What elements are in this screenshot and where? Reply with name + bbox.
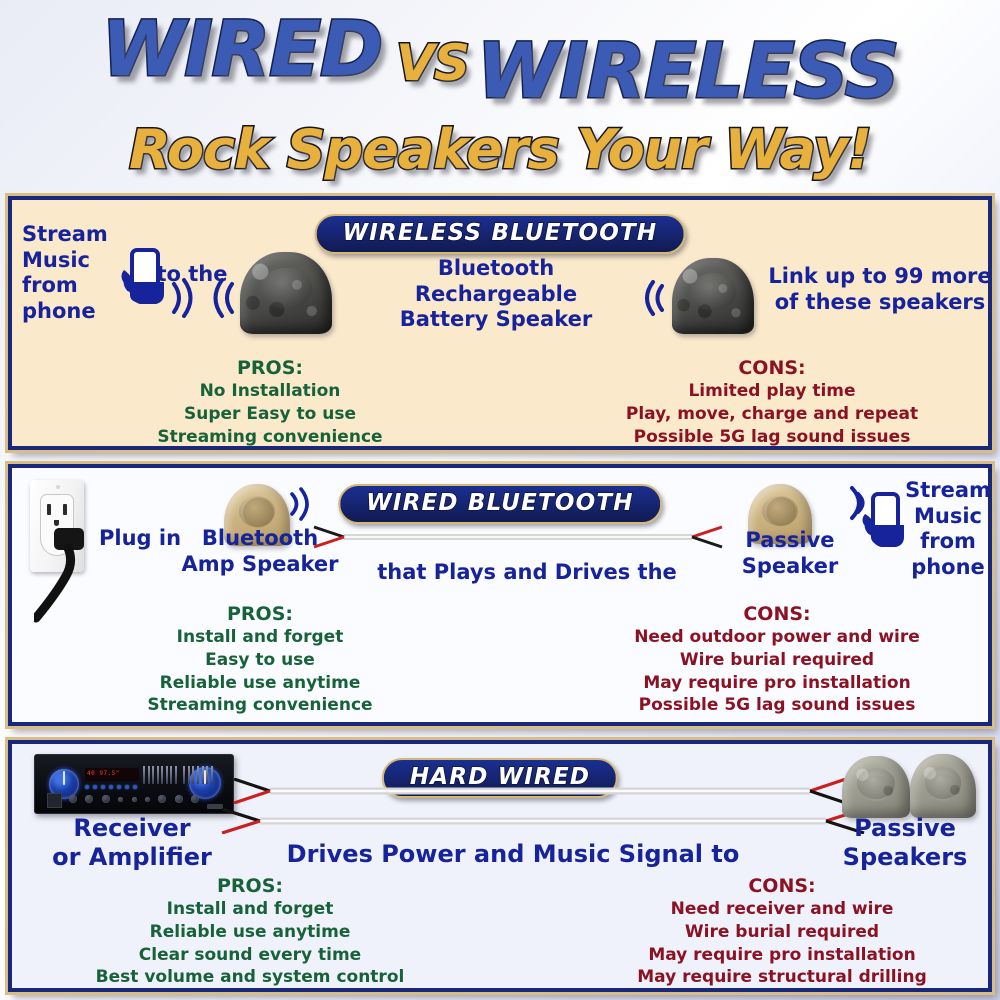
outlet-screw <box>56 485 60 489</box>
title-word-wired: WIRED <box>101 4 382 93</box>
speaker-cone <box>239 496 276 527</box>
cons-item: Need receiver and wire <box>592 898 972 921</box>
pros-heading: PROS: <box>120 356 420 380</box>
speaker-cone <box>690 273 736 311</box>
rock-speaker-gray-icon <box>910 754 976 818</box>
pros-item: Reliable use anytime <box>100 672 420 695</box>
pros-item: Best volume and system control <box>80 966 420 989</box>
cons-item: Play, move, charge and repeat <box>582 403 962 426</box>
cons-item: Possible 5G lag sound issues <box>582 694 972 717</box>
badge-wireless-bluetooth: WIRELESS BLUETOOTH <box>315 214 686 254</box>
panel-hard-wired: HARD WIRED 40 97.5" Receiver or Amplifie… <box>8 740 992 992</box>
rock-speaker-dark-icon <box>240 252 332 334</box>
label-bluetooth-rechargeable-battery-speaker: Bluetooth Rechargeable Battery Speaker <box>346 256 646 333</box>
cons-heading: CONS: <box>582 356 962 380</box>
rock-speaker-gray-icon <box>842 756 910 818</box>
bluetooth-wave-icon <box>210 278 238 323</box>
title-line-2: Rock Speakers Your Way! <box>0 118 1000 181</box>
cons-list-wired-bt: CONS: Need outdoor power and wire Wire b… <box>582 602 972 717</box>
cons-item: Wire burial required <box>592 921 972 944</box>
cons-list-wireless: CONS: Limited play time Play, move, char… <box>582 356 962 448</box>
cons-heading: CONS: <box>582 602 972 626</box>
title-subtitle: Rock Speakers Your Way! <box>129 118 871 181</box>
title-word-wireless: WIRELESS <box>477 26 899 115</box>
label-drives-power-and-music-signal-to: Drives Power and Music Signal to <box>258 840 768 869</box>
panel-wireless-bluetooth: WIRELESS BLUETOOTH Stream Music from pho… <box>8 196 992 450</box>
speaker-wire-icon <box>218 808 868 834</box>
label-receiver-or-amplifier: Receiver or Amplifier <box>22 814 242 873</box>
cons-list-hard-wired: CONS: Need receiver and wire Wire burial… <box>592 874 972 989</box>
label-that-plays-and-drives-the: that Plays and Drives the <box>342 560 712 586</box>
pros-list-wired-bt: PROS: Install and forget Easy to use Rel… <box>100 602 420 717</box>
label-stream-music-from-phone: Stream Music from phone <box>898 478 992 580</box>
speaker-wire-icon <box>308 524 728 550</box>
cons-item: May require pro installation <box>592 944 972 967</box>
speaker-wire-icon <box>230 778 850 804</box>
pros-list-hard-wired: PROS: Install and forget Reliable use an… <box>80 874 420 989</box>
av-receiver-icon: 40 97.5" <box>34 754 234 814</box>
phone-in-hand-icon <box>116 248 170 332</box>
pros-item: Install and forget <box>80 898 420 921</box>
receiver-eq-bank <box>183 766 213 784</box>
pros-heading: PROS: <box>80 874 420 898</box>
receiver-dial-row[interactable] <box>69 795 199 803</box>
label-passive-speaker: Passive Speaker <box>730 528 850 579</box>
speaker-cone <box>762 496 798 526</box>
pros-list-wireless: PROS: No Installation Super Easy to use … <box>120 356 420 448</box>
receiver-indicator-row[interactable] <box>85 785 137 789</box>
infographic-title: WIREDVSWIRELESS Rock Speakers Your Way! <box>0 0 1000 190</box>
outlet-slot <box>47 504 51 515</box>
bluetooth-wave-icon <box>642 278 668 323</box>
title-line-1: WIREDVSWIRELESS <box>0 4 1000 93</box>
cons-item: Limited play time <box>582 380 962 403</box>
receiver-input-jack <box>47 793 62 808</box>
pros-item: Super Easy to use <box>120 403 420 426</box>
cons-item: May require structural drilling <box>592 966 972 989</box>
receiver-eq-bank <box>143 766 177 784</box>
pros-item: Clear sound every time <box>80 944 420 967</box>
outlet-slot <box>63 504 67 515</box>
speaker-cone <box>925 767 962 799</box>
cons-item: May require pro installation <box>582 672 972 695</box>
cons-item: Wire burial required <box>582 649 972 672</box>
bluetooth-wave-icon <box>286 484 312 529</box>
cons-item: Need outdoor power and wire <box>582 626 972 649</box>
pros-item: Easy to use <box>100 649 420 672</box>
speaker-cone <box>857 768 895 799</box>
badge-wired-bluetooth: WIRED BLUETOOTH <box>338 484 662 524</box>
speaker-cone <box>260 268 312 309</box>
label-passive-speakers: Passive Speakers <box>820 814 990 873</box>
pros-item: No Installation <box>120 380 420 403</box>
pros-item: Streaming convenience <box>100 694 420 717</box>
pros-item: Reliable use anytime <box>80 921 420 944</box>
title-word-vs: VS <box>396 34 469 92</box>
label-link-up-to-99-more: Link up to 99 more of these speakers <box>760 264 992 315</box>
pros-item: Streaming convenience <box>120 426 420 449</box>
panel-wired-bluetooth: WIRED BLUETOOTH Plug in Bluetooth Amp Sp… <box>8 464 992 726</box>
cons-heading: CONS: <box>592 874 972 898</box>
cons-item: Possible 5G lag sound issues <box>582 426 962 449</box>
pros-item: Install and forget <box>100 626 420 649</box>
pros-heading: PROS: <box>100 602 420 626</box>
rock-speaker-dark-icon <box>672 258 754 334</box>
receiver-led-display: 40 97.5" <box>85 768 139 781</box>
